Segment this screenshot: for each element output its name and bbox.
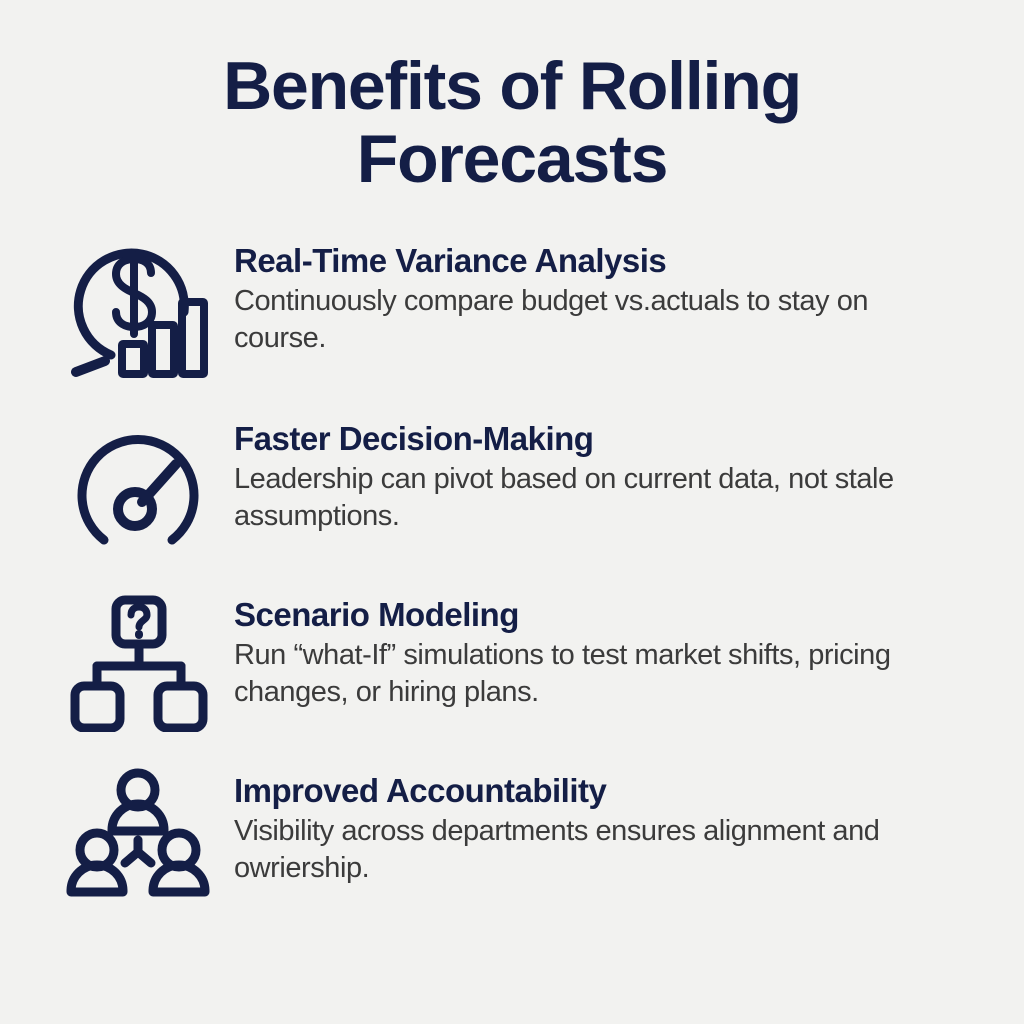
benefit-text-block: Improved Accountability Visibility acros…	[234, 763, 964, 887]
magnifier-dollar-bar-chart-icon	[62, 233, 214, 383]
hierarchy-question-node-icon	[62, 587, 214, 737]
benefit-body: Continuously compare budget vs.actuals t…	[234, 283, 894, 357]
benefit-item-improved-accountability: Improved Accountability Visibility acros…	[62, 763, 964, 913]
infographic-poster: Benefits of Rolling Forecasts	[0, 0, 1024, 1024]
benefits-list: Real-Time Variance Analysis Continuously…	[0, 231, 1024, 913]
benefit-item-scenario-modeling: Scenario Modeling Run “what-If” simulati…	[62, 587, 964, 737]
benefit-heading: Improved Accountability	[234, 773, 964, 810]
benefit-text-block: Faster Decision-Making Leadership can pi…	[234, 411, 964, 535]
page-title-line-2: Forecasts	[96, 125, 928, 194]
benefit-heading: Scenario Modeling	[234, 597, 964, 634]
benefit-heading: Real-Time Variance Analysis	[234, 243, 964, 280]
benefit-text-block: Real-Time Variance Analysis Continuously…	[234, 233, 964, 357]
benefit-body: Leadership can pivot based on current da…	[234, 461, 894, 535]
benefit-item-faster-decision-making: Faster Decision-Making Leadership can pi…	[62, 411, 964, 561]
benefit-body: Run “what-If” simulations to test market…	[234, 637, 894, 711]
benefit-item-real-time-variance-analysis: Real-Time Variance Analysis Continuously…	[62, 233, 964, 383]
benefit-heading: Faster Decision-Making	[234, 421, 964, 458]
three-people-network-icon	[62, 763, 214, 913]
speedometer-gauge-icon	[62, 411, 214, 561]
benefit-text-block: Scenario Modeling Run “what-If” simulati…	[234, 587, 964, 711]
page-title-line-1: Benefits of Rolling	[96, 52, 928, 121]
benefit-body: Visibility across departments ensures al…	[234, 813, 894, 887]
page-title: Benefits of Rolling Forecasts	[0, 0, 1024, 195]
